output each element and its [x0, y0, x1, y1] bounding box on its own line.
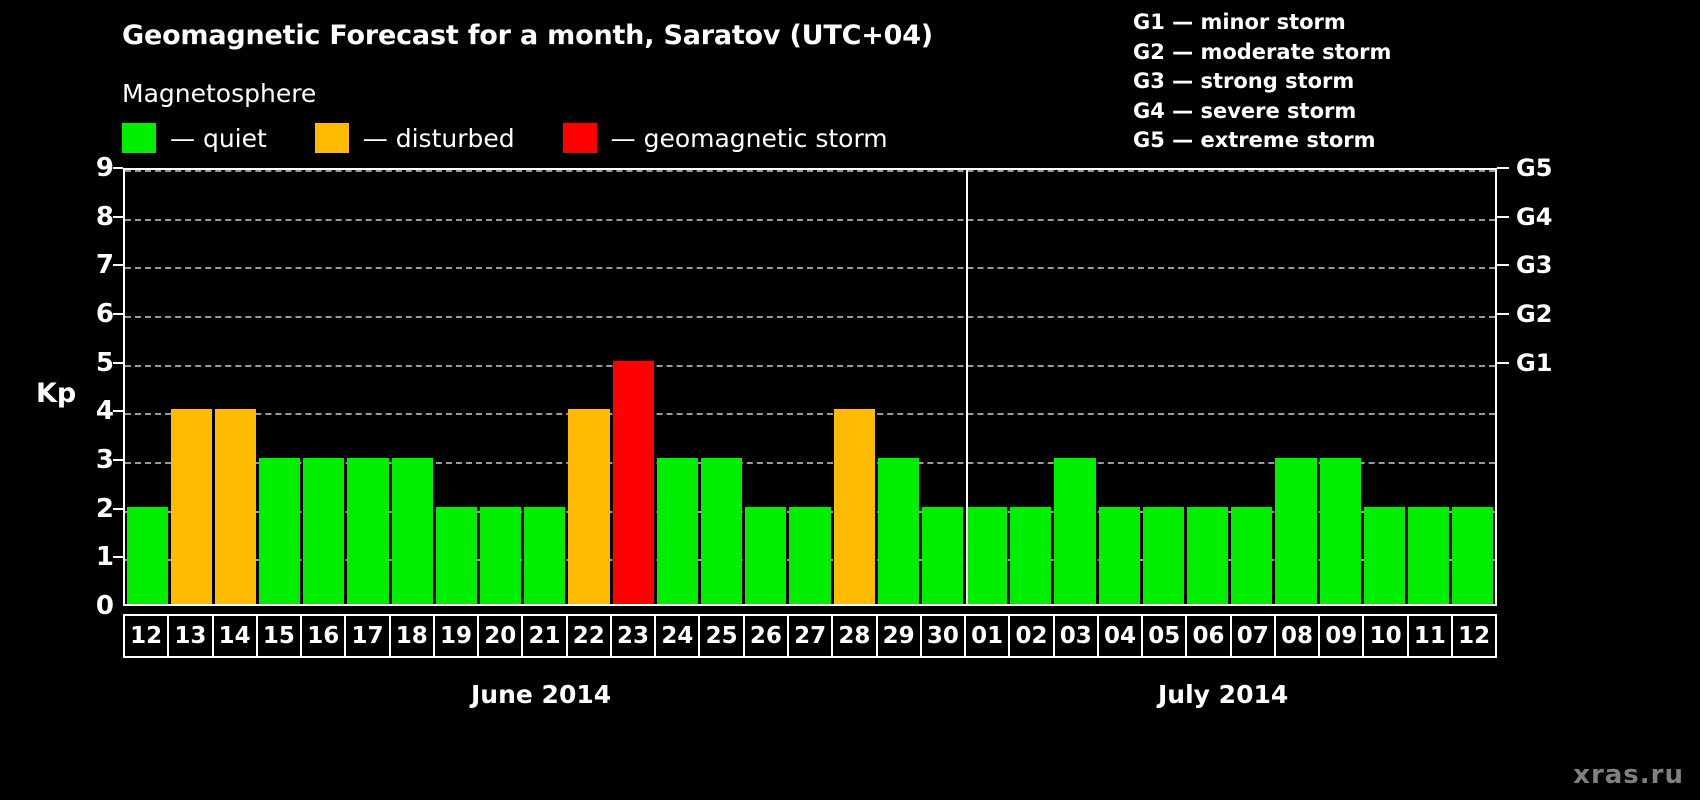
plot-area	[123, 168, 1497, 606]
bar-22	[568, 409, 609, 604]
month-label-july: July 2014	[1158, 680, 1288, 709]
bar-07	[1231, 507, 1272, 604]
date-label-05: 05	[1141, 614, 1187, 658]
g-scale-entry-3: G3 — strong storm	[1133, 67, 1391, 97]
bar-cell	[1274, 170, 1318, 604]
date-label-12: 12	[123, 614, 169, 658]
bar-cell	[567, 170, 611, 604]
y-tick-label-2: 2	[74, 494, 114, 524]
legend-label: — quiet	[170, 124, 267, 153]
bar-cell	[1230, 170, 1274, 604]
bar-09	[1320, 458, 1361, 604]
chart-subtitle: Magnetosphere	[122, 79, 316, 108]
y-tick-mark-5	[113, 362, 123, 364]
bar-cell	[1318, 170, 1362, 604]
bar-30	[922, 507, 963, 604]
date-label-06: 06	[1185, 614, 1231, 658]
bar-05	[1143, 507, 1184, 604]
bar-14	[215, 409, 256, 604]
y-tick-label-1: 1	[74, 542, 114, 572]
g-scale-entry-4: G4 — severe storm	[1133, 97, 1391, 127]
date-label-23: 23	[610, 614, 656, 658]
bar-13	[171, 409, 212, 604]
bar-12	[1452, 507, 1493, 604]
bar-cell	[1406, 170, 1450, 604]
bar-cell	[1097, 170, 1141, 604]
bar-16	[303, 458, 344, 604]
bar-28	[834, 409, 875, 604]
bar-cell	[832, 170, 876, 604]
y-tick-mark-3	[113, 459, 123, 461]
date-label-04: 04	[1097, 614, 1143, 658]
bar-15	[259, 458, 300, 604]
y-tick-label-3: 3	[74, 445, 114, 475]
bar-26	[745, 507, 786, 604]
date-label-02: 02	[1008, 614, 1054, 658]
date-label-19: 19	[433, 614, 479, 658]
bar-cell	[1141, 170, 1185, 604]
y-tick-label-5: 5	[74, 348, 114, 378]
g-scale-entry-2: G2 — moderate storm	[1133, 38, 1391, 68]
date-label-14: 14	[212, 614, 258, 658]
g-tick-label-G3: G3	[1516, 251, 1552, 279]
date-label-29: 29	[876, 614, 922, 658]
bar-cell	[920, 170, 964, 604]
date-label-30: 30	[920, 614, 966, 658]
date-label-12: 12	[1451, 614, 1497, 658]
y-tick-mark-9	[113, 167, 123, 169]
date-label-08: 08	[1274, 614, 1320, 658]
date-label-18: 18	[389, 614, 435, 658]
bar-cell	[788, 170, 832, 604]
bar-17	[347, 458, 388, 604]
y-tick-label-9: 9	[74, 153, 114, 183]
bar-cell	[1009, 170, 1053, 604]
date-label-20: 20	[477, 614, 523, 658]
date-axis: 1213141516171819202122232425262728293001…	[123, 614, 1497, 658]
date-label-26: 26	[743, 614, 789, 658]
bar-23	[613, 361, 654, 604]
date-label-07: 07	[1230, 614, 1276, 658]
bar-cell	[655, 170, 699, 604]
y-tick-label-0: 0	[74, 591, 114, 621]
date-label-13: 13	[167, 614, 213, 658]
orange-square-swatch	[315, 123, 349, 153]
bar-12	[127, 507, 168, 604]
bar-29	[878, 458, 919, 604]
date-label-10: 10	[1362, 614, 1408, 658]
bar-cell	[390, 170, 434, 604]
g-scale-legend: G1 — minor stormG2 — moderate stormG3 — …	[1133, 8, 1391, 156]
bar-cell	[302, 170, 346, 604]
date-label-03: 03	[1053, 614, 1099, 658]
bar-cell	[346, 170, 390, 604]
bar-20	[480, 507, 521, 604]
bar-cell	[876, 170, 920, 604]
bar-18	[392, 458, 433, 604]
legend-item-1: — disturbed	[315, 123, 515, 153]
date-label-21: 21	[521, 614, 567, 658]
bar-21	[524, 507, 565, 604]
bar-cell	[1362, 170, 1406, 604]
date-label-28: 28	[831, 614, 877, 658]
g-scale-entry-5: G5 — extreme storm	[1133, 126, 1391, 156]
date-label-15: 15	[256, 614, 302, 658]
g-tick-label-G2: G2	[1516, 300, 1552, 328]
g-tick-label-G5: G5	[1516, 154, 1552, 182]
bar-cell	[699, 170, 743, 604]
bar-25	[701, 458, 742, 604]
bar-cell	[1186, 170, 1230, 604]
date-label-16: 16	[300, 614, 346, 658]
date-label-25: 25	[698, 614, 744, 658]
bar-03	[1054, 458, 1095, 604]
bar-10	[1364, 507, 1405, 604]
bar-cell	[434, 170, 478, 604]
month-divider	[966, 170, 968, 604]
y-tick-mark-4	[113, 410, 123, 412]
bar-01	[966, 507, 1007, 604]
date-label-01: 01	[964, 614, 1010, 658]
legend-label: — geomagnetic storm	[611, 124, 888, 153]
date-label-09: 09	[1318, 614, 1364, 658]
y-tick-label-6: 6	[74, 299, 114, 329]
g-scale-entry-1: G1 — minor storm	[1133, 8, 1391, 38]
bar-cell	[965, 170, 1009, 604]
bar-08	[1275, 458, 1316, 604]
y-tick-mark-6	[113, 313, 123, 315]
bar-cell	[479, 170, 523, 604]
g-tick-label-G1: G1	[1516, 349, 1552, 377]
y-axis-title: Kp	[36, 378, 76, 409]
bar-cell	[213, 170, 257, 604]
bar-24	[657, 458, 698, 604]
y-tick-mark-1	[113, 556, 123, 558]
y-tick-label-7: 7	[74, 250, 114, 280]
bar-02	[1010, 507, 1051, 604]
green-square-swatch	[122, 123, 156, 153]
bar-04	[1099, 507, 1140, 604]
y-tick-mark-8	[113, 216, 123, 218]
date-label-11: 11	[1407, 614, 1453, 658]
y-tick-label-4: 4	[74, 396, 114, 426]
g-tick-label-G4: G4	[1516, 203, 1552, 231]
g-tick-mark-G1	[1497, 362, 1509, 364]
bar-19	[436, 507, 477, 604]
date-label-24: 24	[654, 614, 700, 658]
g-tick-mark-G4	[1497, 216, 1509, 218]
legend-item-2: — geomagnetic storm	[563, 123, 888, 153]
watermark: xras.ru	[1573, 760, 1684, 790]
bar-cell	[1451, 170, 1495, 604]
date-label-27: 27	[787, 614, 833, 658]
month-label-june: June 2014	[471, 680, 611, 709]
g-tick-mark-G5	[1497, 167, 1509, 169]
color-legend: — quiet— disturbed— geomagnetic storm	[122, 122, 936, 154]
g-tick-mark-G3	[1497, 264, 1509, 266]
bar-cell	[611, 170, 655, 604]
red-square-swatch	[563, 123, 597, 153]
bar-series	[125, 170, 1495, 604]
y-tick-mark-7	[113, 264, 123, 266]
bar-06	[1187, 507, 1228, 604]
bar-cell	[125, 170, 169, 604]
date-label-22: 22	[566, 614, 612, 658]
bar-cell	[258, 170, 302, 604]
page-title: Geomagnetic Forecast for a month, Sarato…	[122, 20, 933, 51]
bar-cell	[1053, 170, 1097, 604]
y-tick-mark-2	[113, 508, 123, 510]
bar-11	[1408, 507, 1449, 604]
date-label-17: 17	[344, 614, 390, 658]
legend-label: — disturbed	[363, 124, 515, 153]
bar-cell	[744, 170, 788, 604]
legend-item-0: — quiet	[122, 123, 267, 153]
y-tick-label-8: 8	[74, 202, 114, 232]
bar-27	[789, 507, 830, 604]
g-tick-mark-G2	[1497, 313, 1509, 315]
bar-cell	[169, 170, 213, 604]
bar-cell	[523, 170, 567, 604]
